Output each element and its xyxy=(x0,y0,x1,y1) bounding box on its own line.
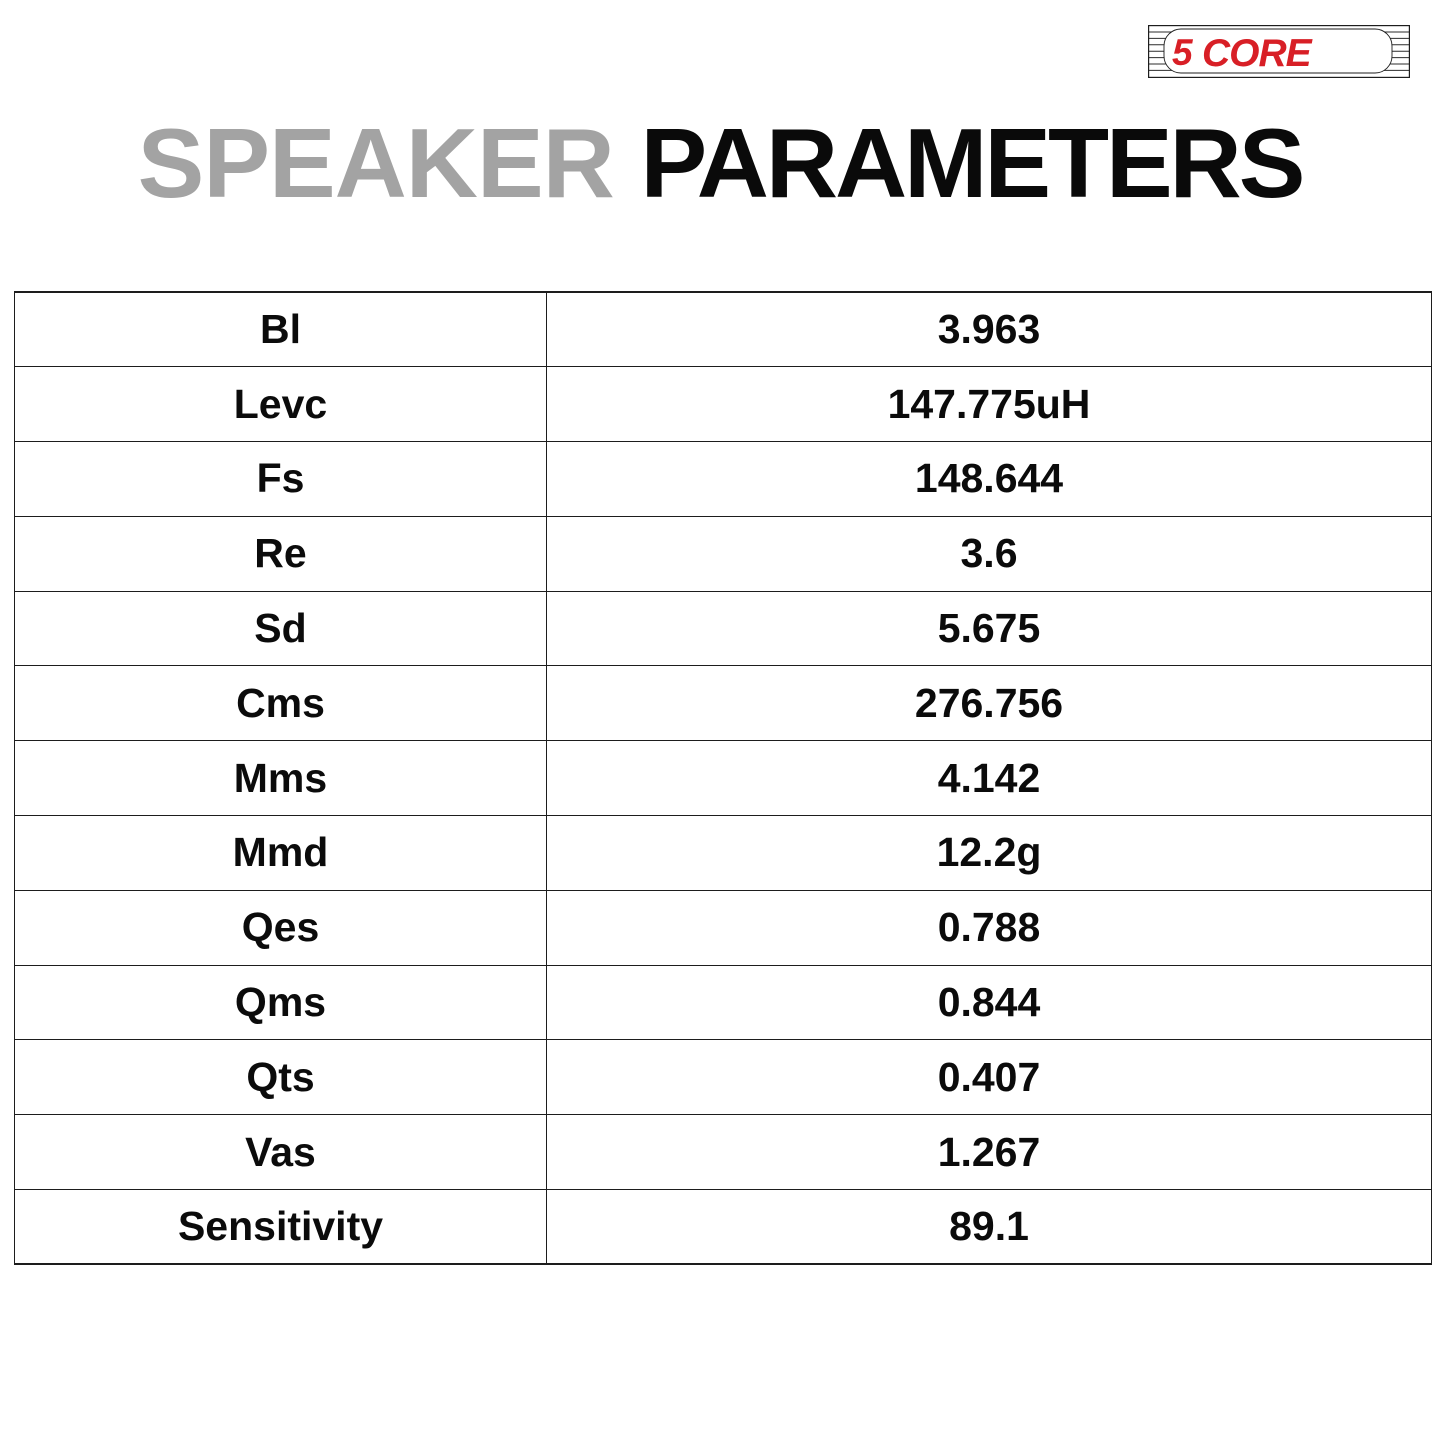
table-row: Bl 3.963 xyxy=(15,292,1432,367)
page-title-speaker: SPEAKER xyxy=(138,108,614,218)
param-name-cell: Qes xyxy=(15,890,547,965)
param-value-cell: 3.6 xyxy=(547,516,1432,591)
param-name-cell: Qts xyxy=(15,1040,547,1115)
param-value-cell: 276.756 xyxy=(547,666,1432,741)
table-row: Fs 148.644 xyxy=(15,442,1432,517)
table-row: Qms 0.844 xyxy=(15,965,1432,1040)
param-value-cell: 12.2g xyxy=(547,816,1432,891)
param-value-cell: 89.1 xyxy=(547,1190,1432,1265)
param-value-cell: 5.675 xyxy=(547,591,1432,666)
param-name-cell: Qms xyxy=(15,965,547,1040)
param-name-cell: Sd xyxy=(15,591,547,666)
table-row: Mms 4.142 xyxy=(15,741,1432,816)
table-row: Cms 276.756 xyxy=(15,666,1432,741)
table-row: Sd 5.675 xyxy=(15,591,1432,666)
table-row: Mmd 12.2g xyxy=(15,816,1432,891)
param-value-cell: 0.407 xyxy=(547,1040,1432,1115)
brand-logo-text-5: 5 xyxy=(1172,32,1194,73)
param-name-cell: Sensitivity xyxy=(15,1190,547,1265)
param-name-cell: Bl xyxy=(15,292,547,367)
table-row: Qes 0.788 xyxy=(15,890,1432,965)
brand-logo-text-core: CORE xyxy=(1202,32,1313,75)
table-row: Sensitivity 89.1 xyxy=(15,1190,1432,1265)
table-body: Bl 3.963 Levc 147.775uH Fs 148.644 Re 3.… xyxy=(15,292,1432,1264)
param-name-cell: Fs xyxy=(15,442,547,517)
param-name-cell: Cms xyxy=(15,666,547,741)
param-value-cell: 3.963 xyxy=(547,292,1432,367)
table-row: Qts 0.407 xyxy=(15,1040,1432,1115)
table-row: Vas 1.267 xyxy=(15,1115,1432,1190)
page-title-parameters: PARAMETERS xyxy=(641,108,1303,218)
param-name-cell: Levc xyxy=(15,367,547,442)
table-row: Re 3.6 xyxy=(15,516,1432,591)
param-name-cell: Mmd xyxy=(15,816,547,891)
speaker-parameters-table: Bl 3.963 Levc 147.775uH Fs 148.644 Re 3.… xyxy=(14,291,1432,1265)
param-name-cell: Vas xyxy=(15,1115,547,1190)
page-title: SPEAKER PARAMETERS xyxy=(0,108,1440,218)
param-value-cell: 147.775uH xyxy=(547,367,1432,442)
table-row: Levc 147.775uH xyxy=(15,367,1432,442)
param-value-cell: 148.644 xyxy=(547,442,1432,517)
param-name-cell: Re xyxy=(15,516,547,591)
brand-logo: 5 CORE 5 CORE xyxy=(1148,25,1410,78)
param-value-cell: 1.267 xyxy=(547,1115,1432,1190)
param-name-cell: Mms xyxy=(15,741,547,816)
param-value-cell: 0.788 xyxy=(547,890,1432,965)
param-value-cell: 0.844 xyxy=(547,965,1432,1040)
param-value-cell: 4.142 xyxy=(547,741,1432,816)
